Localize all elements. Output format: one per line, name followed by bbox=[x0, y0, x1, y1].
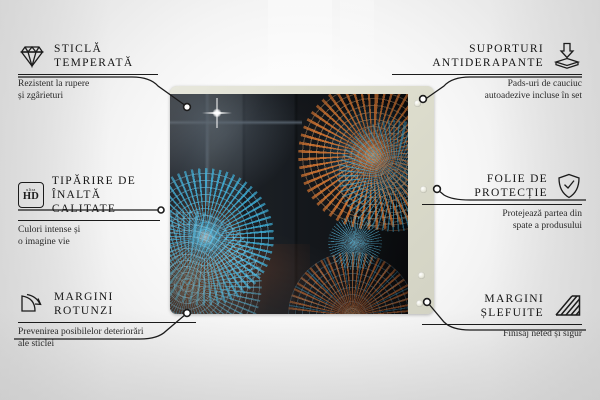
feature-header: SUPORTURI ANTIDERAPANTE bbox=[392, 42, 582, 70]
feature-divider bbox=[422, 324, 582, 325]
feature-header: MARGINI ȘLEFUITE bbox=[422, 292, 582, 320]
feature-title: MARGINI ROTUNZI bbox=[54, 290, 114, 318]
feature-title: SUPORTURI ANTIDERAPANTE bbox=[432, 42, 544, 70]
feature-title: TIPĂRIRE DE ÎNALTĂ CALITATE bbox=[52, 174, 160, 216]
feature-description: Culori intense și o imagine vie bbox=[18, 224, 160, 248]
feature-description: Protejează partea din spate a produsului bbox=[422, 208, 582, 232]
feature-divider bbox=[18, 220, 160, 221]
feature-title: FOLIE DE PROTECȚIE bbox=[474, 172, 548, 200]
feature-divider bbox=[18, 322, 196, 323]
connector-endpoint bbox=[184, 104, 191, 111]
feature-tempered-glass: STICLĂ TEMPERATĂ Rezistent la rupere și … bbox=[18, 42, 158, 102]
feature-header: ultra HD TIPĂRIRE DE ÎNALTĂ CALITATE bbox=[18, 174, 160, 216]
feature-title: STICLĂ TEMPERATĂ bbox=[54, 42, 133, 70]
feature-high-quality-print: ultra HD TIPĂRIRE DE ÎNALTĂ CALITATE Cul… bbox=[18, 174, 160, 248]
ultra-hd-badge-icon: ultra HD bbox=[18, 182, 44, 208]
infographic-canvas: STICLĂ TEMPERATĂ Rezistent la rupere și … bbox=[0, 0, 600, 400]
feature-title: MARGINI ȘLEFUITE bbox=[481, 292, 544, 320]
feature-polished-edges: MARGINI ȘLEFUITE Finisaj neted și sigur bbox=[422, 292, 582, 340]
feature-divider bbox=[18, 74, 158, 75]
diagonal-lines-icon bbox=[552, 293, 582, 319]
feature-anti-slip-supports: SUPORTURI ANTIDERAPANTE Pads-uri de cauc… bbox=[392, 42, 582, 102]
feature-description: Rezistent la rupere și zgârieturi bbox=[18, 78, 158, 102]
feature-header: STICLĂ TEMPERATĂ bbox=[18, 42, 158, 70]
diamond-icon bbox=[18, 43, 46, 69]
press-pad-icon bbox=[552, 42, 582, 70]
feature-description: Finisaj neted și sigur bbox=[422, 328, 582, 340]
feature-divider bbox=[392, 74, 582, 75]
feature-divider bbox=[422, 204, 582, 205]
badge-main-text: HD bbox=[23, 192, 39, 203]
rounded-corner-icon bbox=[18, 291, 46, 317]
feature-description: Prevenirea posibilelor deteriorări ale s… bbox=[18, 326, 196, 350]
feature-protective-film: FOLIE DE PROTECȚIE Protejează partea din… bbox=[422, 172, 582, 232]
feature-rounded-edges: MARGINI ROTUNZI Prevenirea posibilelor d… bbox=[18, 290, 196, 350]
shield-check-icon bbox=[556, 172, 582, 200]
feature-description: Pads-uri de cauciuc autoadezive incluse … bbox=[392, 78, 582, 102]
feature-header: MARGINI ROTUNZI bbox=[18, 290, 196, 318]
feature-header: FOLIE DE PROTECȚIE bbox=[422, 172, 582, 200]
